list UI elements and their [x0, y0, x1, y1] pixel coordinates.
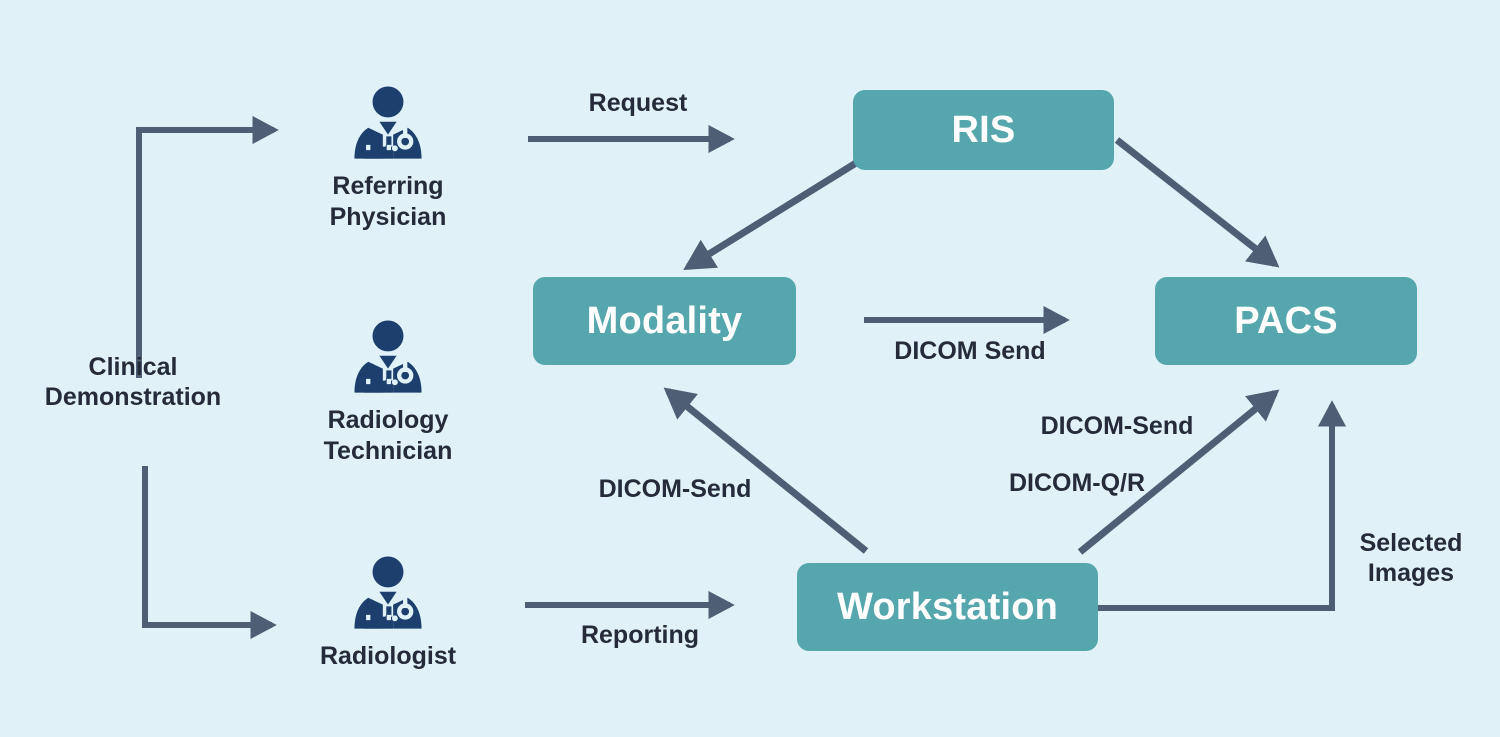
label-dicom-send-modality-pacs: DICOM Send	[860, 336, 1080, 366]
node-workstation[interactable]: Workstation	[797, 563, 1098, 651]
actor-radiology-technician[interactable]: Radiology Technician	[293, 317, 483, 466]
doctor-icon	[345, 553, 431, 639]
node-ris[interactable]: RIS	[853, 90, 1114, 170]
label-reporting: Reporting	[540, 620, 740, 650]
actor-referring-physician-label: Referring Physician	[330, 171, 447, 232]
node-ris-label: RIS	[952, 111, 1016, 149]
node-pacs[interactable]: PACS	[1155, 277, 1417, 365]
actor-referring-physician[interactable]: Referring Physician	[293, 83, 483, 232]
label-selected-images: Selected Images	[1336, 528, 1486, 588]
label-clinical-demonstration: Clinical Demonstration	[18, 352, 248, 412]
edge-clinical-to-radiologist	[145, 466, 272, 625]
doctor-icon	[345, 83, 431, 169]
label-dicom-send-workstation-modality: DICOM-Send	[570, 474, 780, 504]
label-dicom-send-workstation-pacs: DICOM-Send	[1012, 411, 1222, 441]
node-workstation-label: Workstation	[837, 588, 1058, 626]
label-dicom-qr: DICOM-Q/R	[972, 468, 1182, 498]
edge-ris-to-pacs	[1117, 140, 1275, 264]
node-pacs-label: PACS	[1234, 302, 1338, 340]
edge-ris-to-modality	[688, 163, 856, 267]
node-modality[interactable]: Modality	[533, 277, 796, 365]
actor-radiology-technician-label: Radiology Technician	[324, 405, 453, 466]
edge-clinical-to-referring-physician	[139, 130, 274, 378]
doctor-icon	[345, 317, 431, 403]
label-request: Request	[538, 88, 738, 118]
actor-radiologist[interactable]: Radiologist	[293, 553, 483, 672]
actor-radiologist-label: Radiologist	[320, 641, 456, 672]
diagram-canvas: RIS Modality PACS Workstation Referring …	[0, 0, 1500, 737]
node-modality-label: Modality	[587, 302, 743, 340]
edge-workstation-to-modality	[668, 391, 866, 551]
